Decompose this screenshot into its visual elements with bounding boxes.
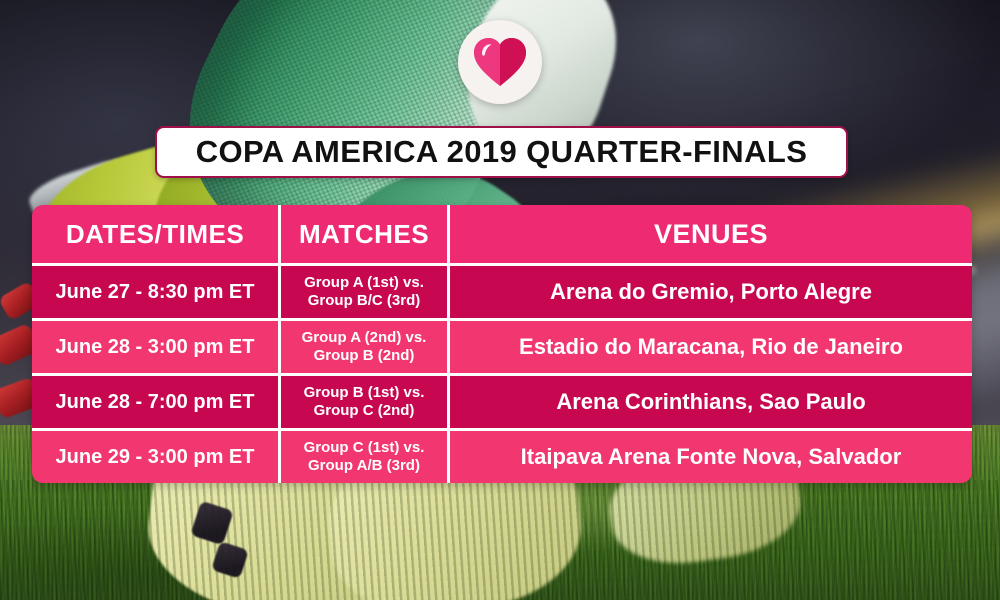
cell-venue: Arena do Gremio, Porto Alegre (450, 266, 972, 318)
cell-match: Group A (2nd) vs. Group B (2nd) (278, 321, 450, 373)
table-row: June 28 - 7:00 pm ET Group B (1st) vs. G… (32, 373, 972, 428)
cell-match-line-1: Group A (2nd) vs. (302, 329, 427, 347)
schedule-table: DATES/TIMES MATCHES VENUES June 27 - 8:3… (32, 205, 972, 483)
cell-venue: Arena Corinthians, Sao Paulo (450, 376, 972, 428)
table-row: June 28 - 3:00 pm ET Group A (2nd) vs. G… (32, 318, 972, 373)
cell-venue: Estadio do Maracana, Rio de Janeiro (450, 321, 972, 373)
cell-match: Group B (1st) vs. Group C (2nd) (278, 376, 450, 428)
cell-date: June 29 - 3:00 pm ET (32, 431, 278, 483)
column-header-dates: DATES/TIMES (32, 205, 278, 263)
table-row: June 27 - 8:30 pm ET Group A (1st) vs. G… (32, 263, 972, 318)
column-header-venues: VENUES (450, 205, 972, 263)
table-row: June 29 - 3:00 pm ET Group C (1st) vs. G… (32, 428, 972, 483)
heart-logo-badge (458, 20, 542, 104)
cell-match-line-2: Group B/C (3rd) (304, 292, 424, 310)
cell-match-line-2: Group A/B (3rd) (304, 457, 425, 475)
cell-match-line-2: Group B (2nd) (302, 347, 427, 365)
cell-match-line-1: Group B (1st) vs. (304, 384, 425, 402)
heart-icon (471, 35, 529, 89)
page-title: COPA AMERICA 2019 QUARTER-FINALS (155, 126, 848, 178)
infographic-canvas: COPA AMERICA 2019 QUARTER-FINALS DATES/T… (0, 0, 1000, 600)
cell-date: June 27 - 8:30 pm ET (32, 266, 278, 318)
cell-date: June 28 - 3:00 pm ET (32, 321, 278, 373)
cell-match: Group C (1st) vs. Group A/B (3rd) (278, 431, 450, 483)
cell-match-line-1: Group A (1st) vs. (304, 274, 424, 292)
column-header-matches: MATCHES (278, 205, 450, 263)
cell-match-line-1: Group C (1st) vs. (304, 439, 425, 457)
cell-date: June 28 - 7:00 pm ET (32, 376, 278, 428)
cell-match: Group A (1st) vs. Group B/C (3rd) (278, 266, 450, 318)
table-header-row: DATES/TIMES MATCHES VENUES (32, 205, 972, 263)
cell-match-line-2: Group C (2nd) (304, 402, 425, 420)
cell-venue: Itaipava Arena Fonte Nova, Salvador (450, 431, 972, 483)
page-title-text: COPA AMERICA 2019 QUARTER-FINALS (196, 134, 808, 170)
foreground-grass-blades (0, 480, 1000, 600)
